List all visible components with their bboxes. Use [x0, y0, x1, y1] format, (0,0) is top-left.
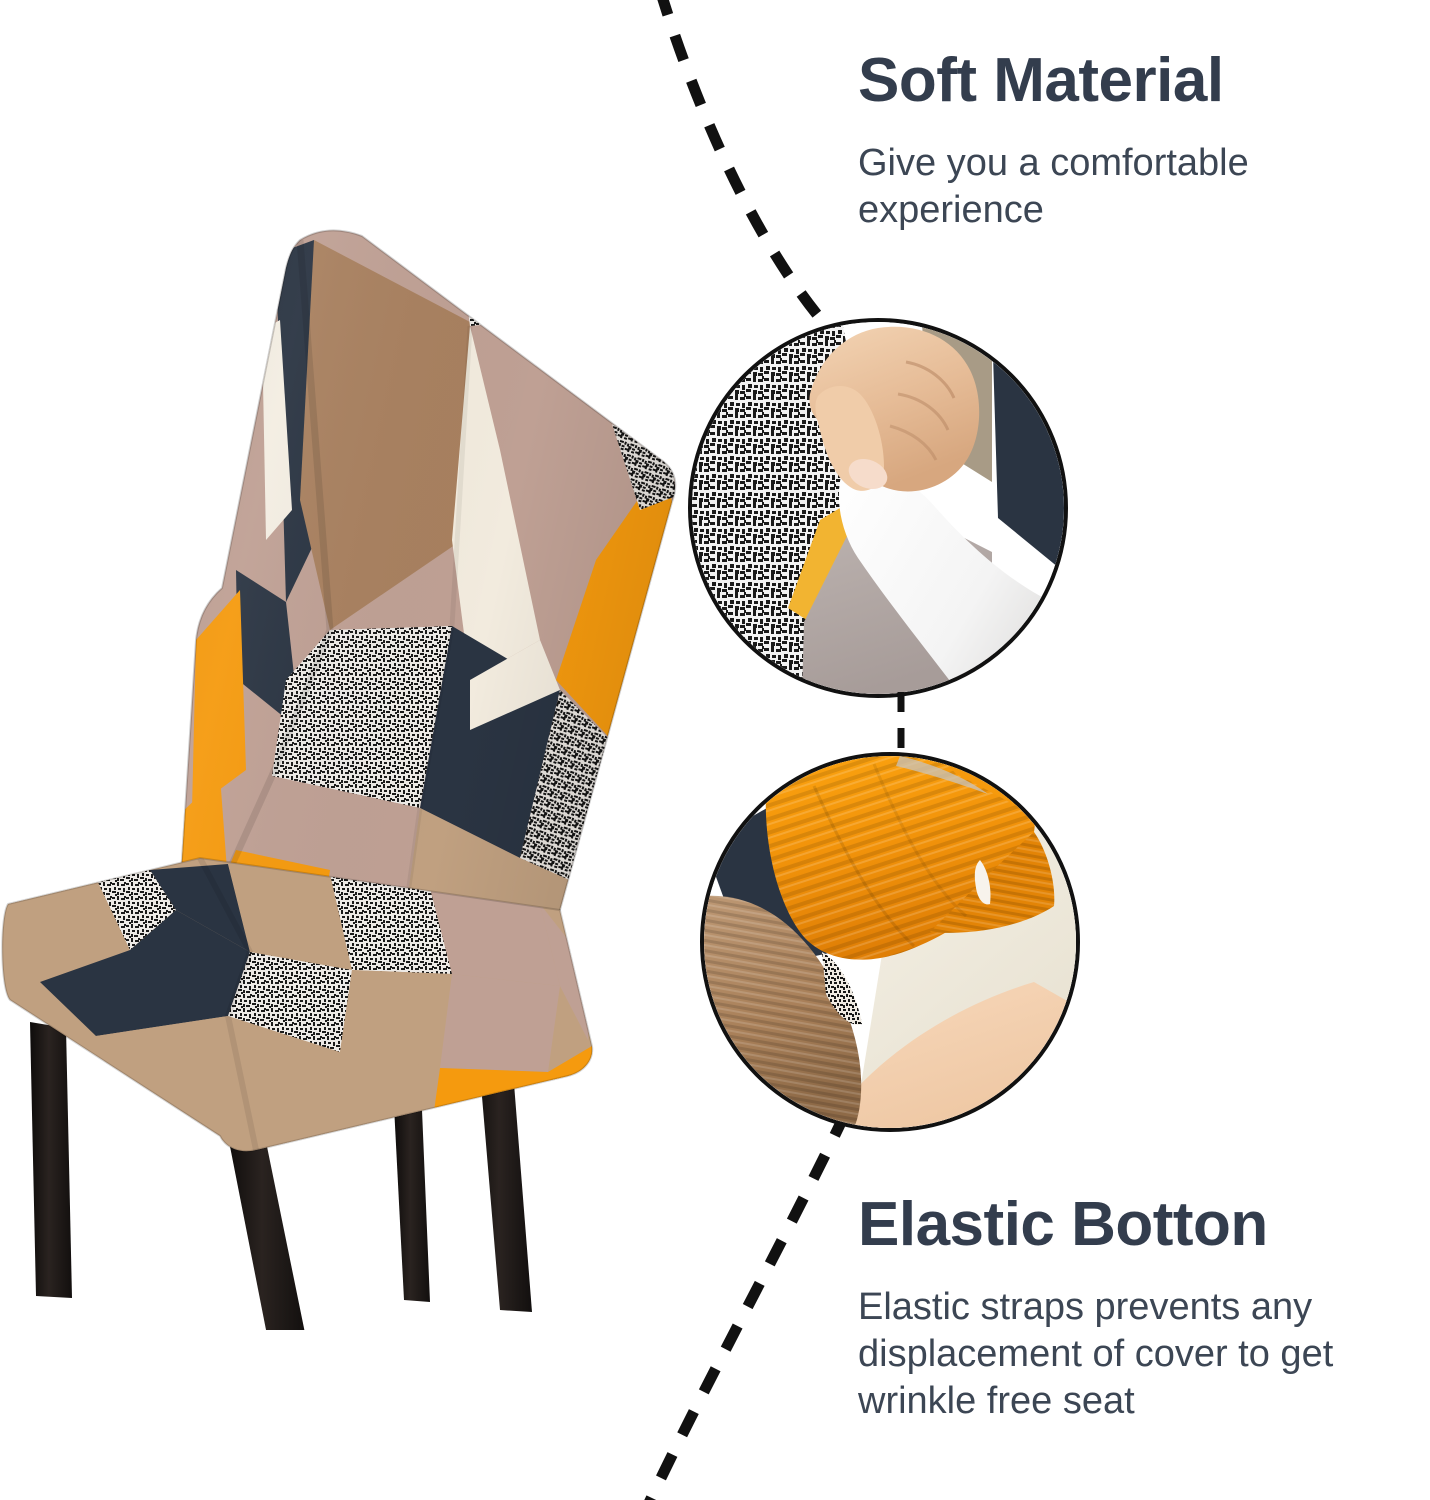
fabric-pinch-closeup-inset [688, 318, 1068, 698]
soft-material-text-block: Soft Material Give you a comfortable exp… [858, 48, 1378, 234]
elastic-botton-headline: Elastic Botton [858, 1192, 1418, 1258]
elastic-botton-text-block: Elastic Botton Elastic straps prevents a… [858, 1192, 1418, 1425]
elastic-hem-closeup-inset [700, 752, 1080, 1132]
chair-product-illustration [0, 210, 690, 1330]
infographic-canvas: Soft Material Give you a comfortable exp… [0, 0, 1430, 1500]
soft-material-description: Give you a comfortable experience [858, 140, 1378, 234]
chair-back-cover [150, 210, 690, 970]
elastic-botton-description: Elastic straps prevents any displacement… [858, 1284, 1418, 1425]
soft-material-headline: Soft Material [858, 48, 1378, 114]
inset-connector-dashes [896, 692, 906, 754]
